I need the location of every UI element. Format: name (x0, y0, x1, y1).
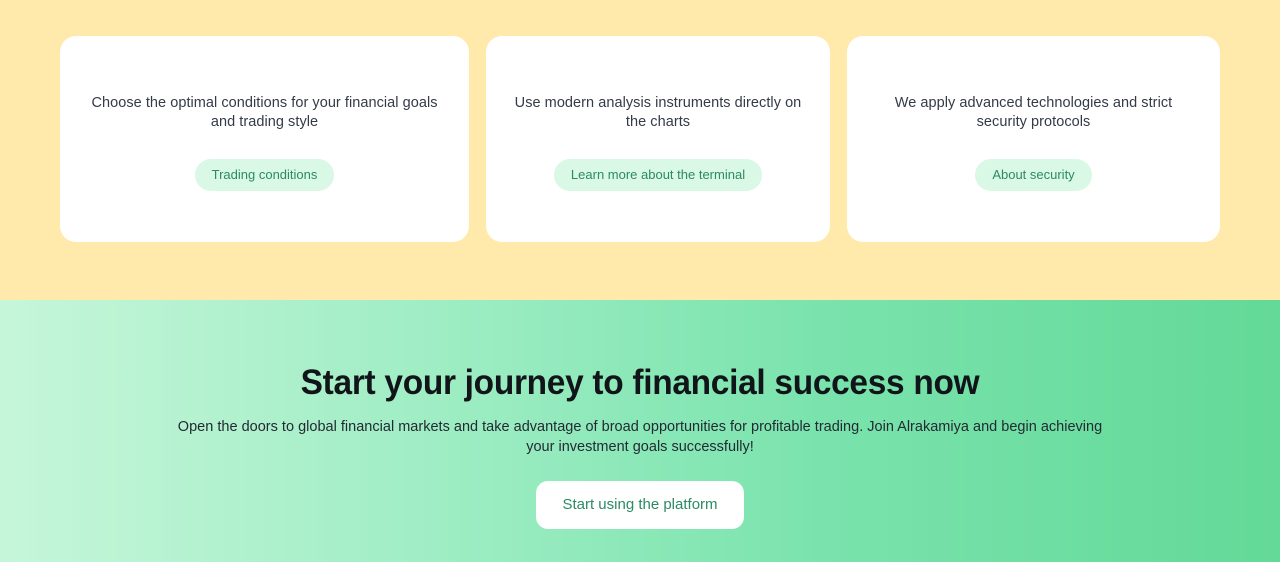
feature-card-security: We apply advanced technologies and stric… (847, 36, 1220, 242)
landing-page: Choose the optimal conditions for your f… (0, 0, 1280, 562)
features-section: Choose the optimal conditions for your f… (0, 0, 1280, 300)
start-using-platform-button[interactable]: Start using the platform (536, 481, 743, 529)
feature-card-text: Choose the optimal conditions for your f… (85, 94, 445, 132)
cta-paragraph: Open the doors to global financial marke… (175, 418, 1105, 457)
feature-cards-row: Choose the optimal conditions for your f… (60, 36, 1220, 242)
feature-card-trading-conditions: Choose the optimal conditions for your f… (60, 36, 469, 242)
learn-more-terminal-button[interactable]: Learn more about the terminal (554, 159, 762, 191)
feature-card-text: We apply advanced technologies and stric… (869, 94, 1197, 132)
feature-card-terminal: Use modern analysis instruments directly… (486, 36, 830, 242)
about-security-button[interactable]: About security (975, 159, 1091, 191)
cta-title: Start your journey to financial success … (29, 300, 1251, 404)
trading-conditions-button[interactable]: Trading conditions (195, 159, 335, 191)
cta-section: Start your journey to financial success … (0, 300, 1280, 562)
cta-button-wrap: Start using the platform (0, 481, 1280, 529)
feature-card-text: Use modern analysis instruments directly… (507, 94, 810, 132)
